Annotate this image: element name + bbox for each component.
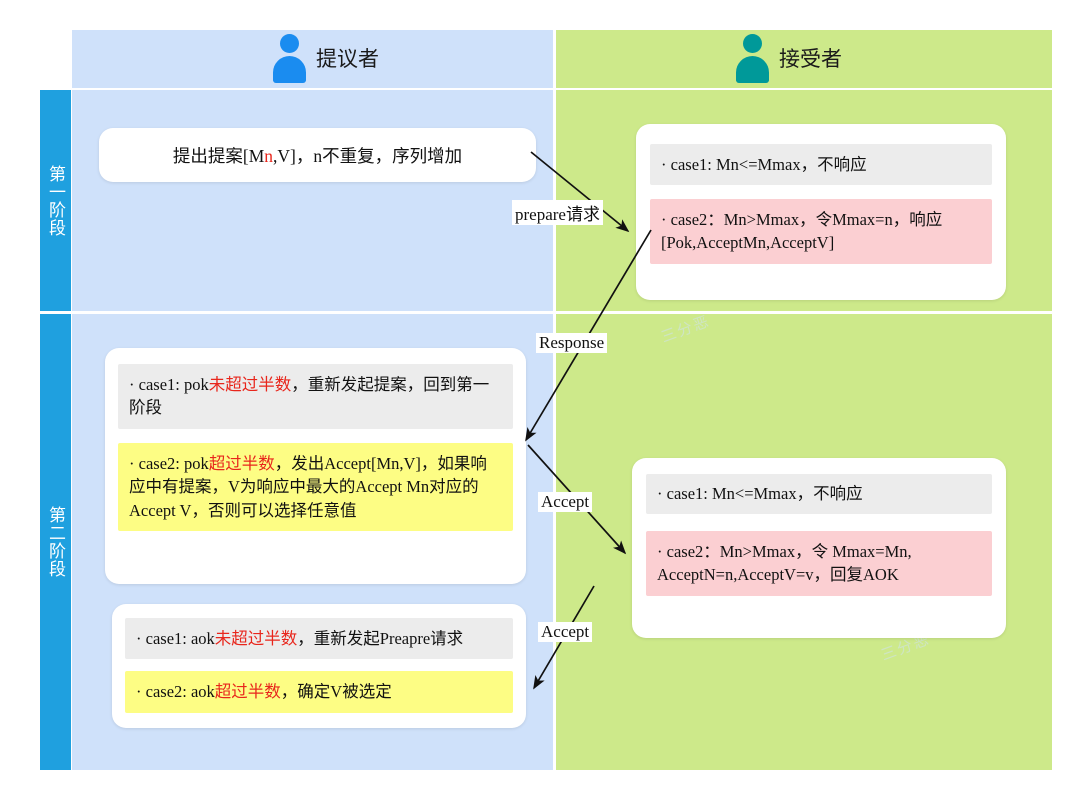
person-icon (735, 32, 769, 84)
stage-tab-1: 第一阶段 (40, 90, 71, 311)
case-row: · case1: pok未超过半数，重新发起提案，回到第一阶段 (118, 364, 513, 429)
case-row: · case1: Mn<=Mmax，不响应 (646, 474, 992, 514)
stage-tab-2: 第二阶段 (40, 314, 71, 770)
case1-text: · case1: Mn<=Mmax，不响应 (657, 482, 863, 505)
card-acceptor-accept: · case1: Mn<=Mmax，不响应 · case2：Mn>Mmax，令 … (632, 458, 1006, 638)
case2-text: · case2: aok超过半数，确定V被选定 (136, 680, 502, 703)
card-propose: 提出提案[Mn,V]，n不重复，序列增加 (99, 128, 536, 182)
case1-text: · case1: Mn<=Mmax，不响应 (661, 153, 867, 176)
case-row: · case2：Mn>Mmax，令 Mmax=Mn, AcceptN=n,Acc… (646, 531, 992, 596)
stage-1-label: 第一阶段 (46, 165, 65, 237)
stage-2-label: 第二阶段 (46, 506, 65, 578)
case2-text: · case2：Mn>Mmax，令Mmax=n，响应[Pok,AcceptMn,… (661, 208, 981, 255)
arrow-label-accept-1: Accept (538, 492, 592, 512)
case-row: · case2：Mn>Mmax，令Mmax=n，响应[Pok,AcceptMn,… (650, 199, 992, 264)
case-row: · case1: Mn<=Mmax，不响应 (650, 144, 992, 185)
card-proposer-response: · case1: pok未超过半数，重新发起提案，回到第一阶段 · case2:… (105, 348, 526, 584)
person-icon (272, 32, 306, 84)
case-row: · case2: aok超过半数，确定V被选定 (125, 671, 513, 712)
card-acceptor-prepare: · case1: Mn<=Mmax，不响应 · case2：Mn>Mmax，令M… (636, 124, 1006, 300)
arrow-label-response: Response (536, 333, 607, 353)
arrow-label-accept-2: Accept (538, 622, 592, 642)
arrow-label-prepare: prepare请求 (512, 200, 603, 225)
card-proposer-aok: · case1: aok未超过半数，重新发起Preapre请求 · case2:… (112, 604, 526, 728)
acceptor-label: 接受者 (779, 43, 842, 73)
paxos-diagram: 三分恶 三分恶 三分恶 第一阶段 第二阶段 提议者 接受者 提出提案[Mn,V]… (0, 0, 1080, 800)
case-row: · case2: pok超过半数，发出Accept[Mn,V]，如果响应中有提案… (118, 443, 513, 531)
case2-text: · case2: pok超过半数，发出Accept[Mn,V]，如果响应中有提案… (129, 452, 502, 522)
case1-text: · case1: pok未超过半数，重新发起提案，回到第一阶段 (129, 373, 502, 420)
proposer-header: 提议者 (272, 32, 379, 84)
proposer-label: 提议者 (316, 43, 379, 73)
stage1-proposer-cell (72, 90, 553, 311)
acceptor-header: 接受者 (735, 32, 842, 84)
case-row: · case1: aok未超过半数，重新发起Preapre请求 (125, 618, 513, 659)
propose-text: 提出提案[Mn,V]，n不重复，序列增加 (99, 143, 536, 168)
case2-text: · case2：Mn>Mmax，令 Mmax=Mn, AcceptN=n,Acc… (657, 540, 981, 587)
case1-text: · case1: aok未超过半数，重新发起Preapre请求 (136, 627, 502, 650)
